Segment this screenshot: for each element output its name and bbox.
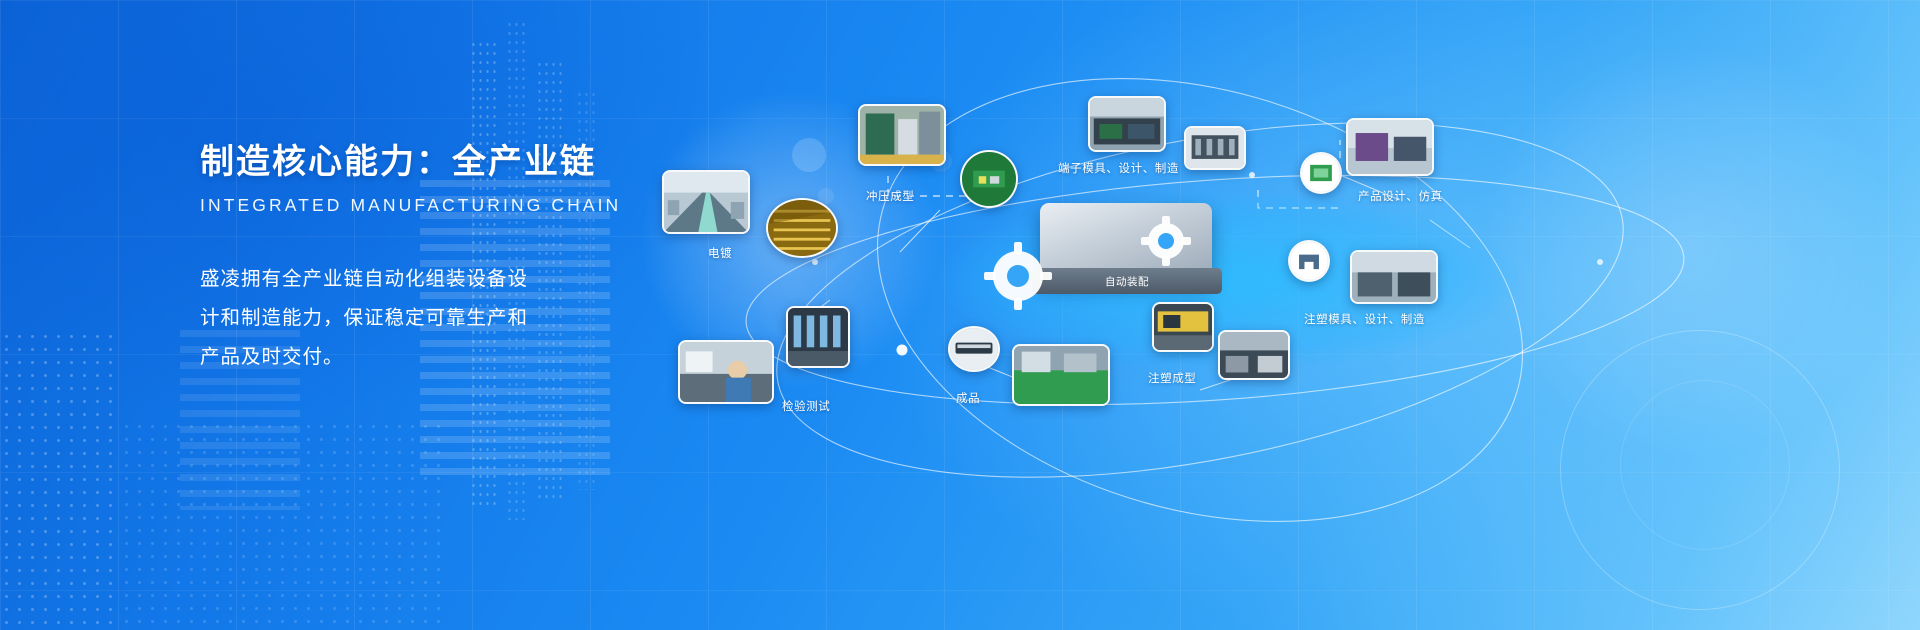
node-label-stamping: 冲压成型 [866,188,914,204]
thumbnail-pcb-green[interactable] [960,150,1018,208]
node-label-electroplating: 电镀 [708,245,732,261]
node-label-inspection-test: 检验测试 [782,398,830,414]
hub-label: 自动装配 [1105,274,1149,289]
thumbnail-product-design[interactable] [1346,118,1434,176]
thumbnail-pcb-assembly[interactable] [1088,96,1166,152]
node-label-product-design: 产品设计、仿真 [1358,188,1443,204]
manufacturing-chain-diagram: 自动装配 [640,0,1920,630]
thumbnail-inspection-operator[interactable] [678,340,774,404]
gear-icon-large [982,240,1054,312]
copy-block: 制造核心能力：全产业链 INTEGRATED MANUFACTURING CHA… [200,142,620,377]
thumbnail-conveyor-line[interactable] [1012,344,1110,406]
thumbnail-injection-molding[interactable] [1152,302,1214,352]
thumbnail-green-machine[interactable] [1300,152,1342,194]
thumbnail-inspection-test[interactable] [786,306,850,368]
gear-icon-small [1140,215,1192,267]
node-label-terminal-mold: 端子模具、设计、制造 [1058,160,1179,176]
page-title: 制造核心能力：全产业链 [200,142,620,183]
page-subtitle: INTEGRATED MANUFACTURING CHAIN [200,195,620,216]
hub-base-plate[interactable]: 自动装配 [1032,268,1222,294]
node-label-finished-product: 成品 [956,390,980,406]
description-line: 盛凌拥有全产业链自动化组装设备设 [200,260,560,299]
thumbnail-stamping[interactable] [858,104,946,166]
thumbnail-injection-mold[interactable] [1350,250,1438,304]
thumbnail-blue-fixture[interactable] [1288,240,1330,282]
page-description: 盛凌拥有全产业链自动化组装设备设 计和制造能力，保证稳定可靠生产和 产品及时交付… [200,260,560,377]
thumbnail-finished-product[interactable] [948,326,1000,372]
thumbnail-assembly-line[interactable] [1218,330,1290,380]
background-dot-field-left [0,330,120,630]
thumbnail-electroplating[interactable] [662,170,750,234]
banner-root: 制造核心能力：全产业链 INTEGRATED MANUFACTURING CHA… [0,0,1920,630]
thumbnail-test-rack[interactable] [1184,126,1246,170]
node-label-injection-molding: 注塑成型 [1148,370,1196,386]
node-label-injection-mold: 注塑模具、设计、制造 [1304,311,1425,327]
description-line: 产品及时交付。 [200,338,560,377]
description-line: 计和制造能力，保证稳定可靠生产和 [200,299,560,338]
thumbnail-gold-coil[interactable] [766,198,838,258]
